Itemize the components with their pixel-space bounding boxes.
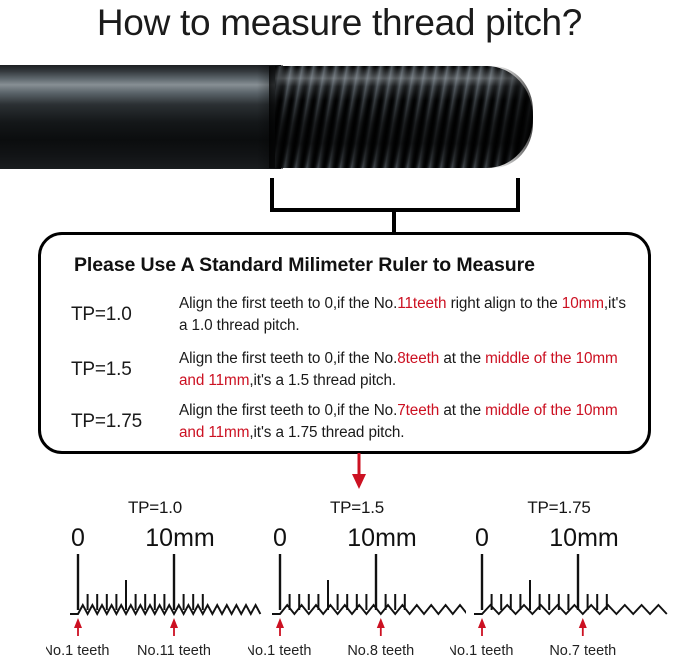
ruler-graphic-2: 010mmNo.1 teethNo.7 teeth [450, 498, 668, 662]
teeth-arrow-label: No.1 teeth [450, 643, 513, 659]
teeth-pointer-arrowhead [276, 618, 284, 628]
plain-text: right align to the [446, 295, 561, 312]
teeth-pointer-arrowhead [478, 618, 486, 628]
plain-text: Align the first teeth to 0,if the No. [179, 402, 397, 419]
highlighted-text: 8teeth [397, 350, 439, 367]
ruler-zero-label: 0 [71, 524, 85, 552]
rule-row: TP=1.5 Align the first teeth to 0,if the… [71, 348, 631, 391]
ruler-zero-label: 0 [273, 524, 287, 552]
teeth-pointer-arrowhead [579, 618, 587, 628]
ruler-ten-label: 10mm [549, 524, 618, 552]
page-title: How to measure thread pitch? [0, 0, 679, 46]
plain-text: at the [439, 350, 485, 367]
rule-row: TP=1.0 Align the first teeth to 0,if the… [71, 293, 631, 336]
thread-span-bracket [260, 176, 530, 236]
teeth-arrow-label: No.7 teeth [549, 643, 616, 659]
rule-description: Align the first teeth to 0,if the No.11t… [179, 293, 631, 336]
plain-text: at the [439, 402, 485, 419]
teeth-pointer-arrowhead [170, 618, 178, 628]
plain-text: Align the first teeth to 0,if the No. [179, 295, 397, 312]
teeth-pointer-arrowhead [74, 618, 82, 628]
teeth-arrow-label: No.1 teeth [46, 643, 109, 659]
plain-text: ,it's a 1.5 thread pitch. [249, 372, 396, 389]
highlighted-text: 10mm [562, 295, 604, 312]
teeth-arrow-label: No.11 teeth [137, 643, 211, 659]
teeth-arrow-label: No.1 teeth [248, 643, 311, 659]
teeth-pointer-arrowhead [377, 618, 385, 628]
ruler-zero-label: 0 [475, 524, 489, 552]
bolt-shank [0, 65, 281, 169]
thread-profile-zigzag [474, 605, 667, 614]
ruler-ten-label: 10mm [145, 524, 214, 552]
ruler-diagram: TP=1.5 010mmNo.1 teethNo.8 teeth [248, 498, 466, 662]
teeth-arrow-label: No.8 teeth [347, 643, 414, 659]
rule-tp-label: TP=1.5 [71, 348, 179, 381]
highlighted-text: 7teeth [397, 402, 439, 419]
ruler-diagram: TP=1.75 010mmNo.1 teethNo.7 teeth [450, 498, 668, 662]
ruler-ten-label: 10mm [347, 524, 416, 552]
rule-tp-label: TP=1.75 [71, 400, 179, 433]
highlighted-text: 11teeth [397, 295, 446, 312]
bolt-threaded-section [275, 66, 533, 168]
ruler-graphic-0: 010mmNo.1 teethNo.11 teeth [46, 498, 264, 662]
rule-description: Align the first teeth to 0,if the No.8te… [179, 348, 631, 391]
rule-row: TP=1.75 Align the first teeth to 0,if th… [71, 400, 631, 443]
instruction-box: Please Use A Standard Milimeter Ruler to… [38, 232, 651, 454]
ruler-graphic-1: 010mmNo.1 teethNo.8 teeth [248, 498, 466, 662]
ruler-diagram: TP=1.0 010mmNo.1 teethNo.11 teeth [46, 498, 264, 662]
thread-profile-zigzag [272, 605, 466, 614]
instruction-heading: Please Use A Standard Milimeter Ruler to… [74, 254, 535, 277]
rule-description: Align the first teeth to 0,if the No.7te… [179, 400, 631, 443]
red-down-arrow-icon [345, 453, 373, 491]
plain-text: Align the first teeth to 0,if the No. [179, 350, 397, 367]
rule-tp-label: TP=1.0 [71, 293, 179, 326]
plain-text: ,it's a 1.75 thread pitch. [249, 424, 404, 441]
threaded-bolt-figure [0, 57, 556, 177]
